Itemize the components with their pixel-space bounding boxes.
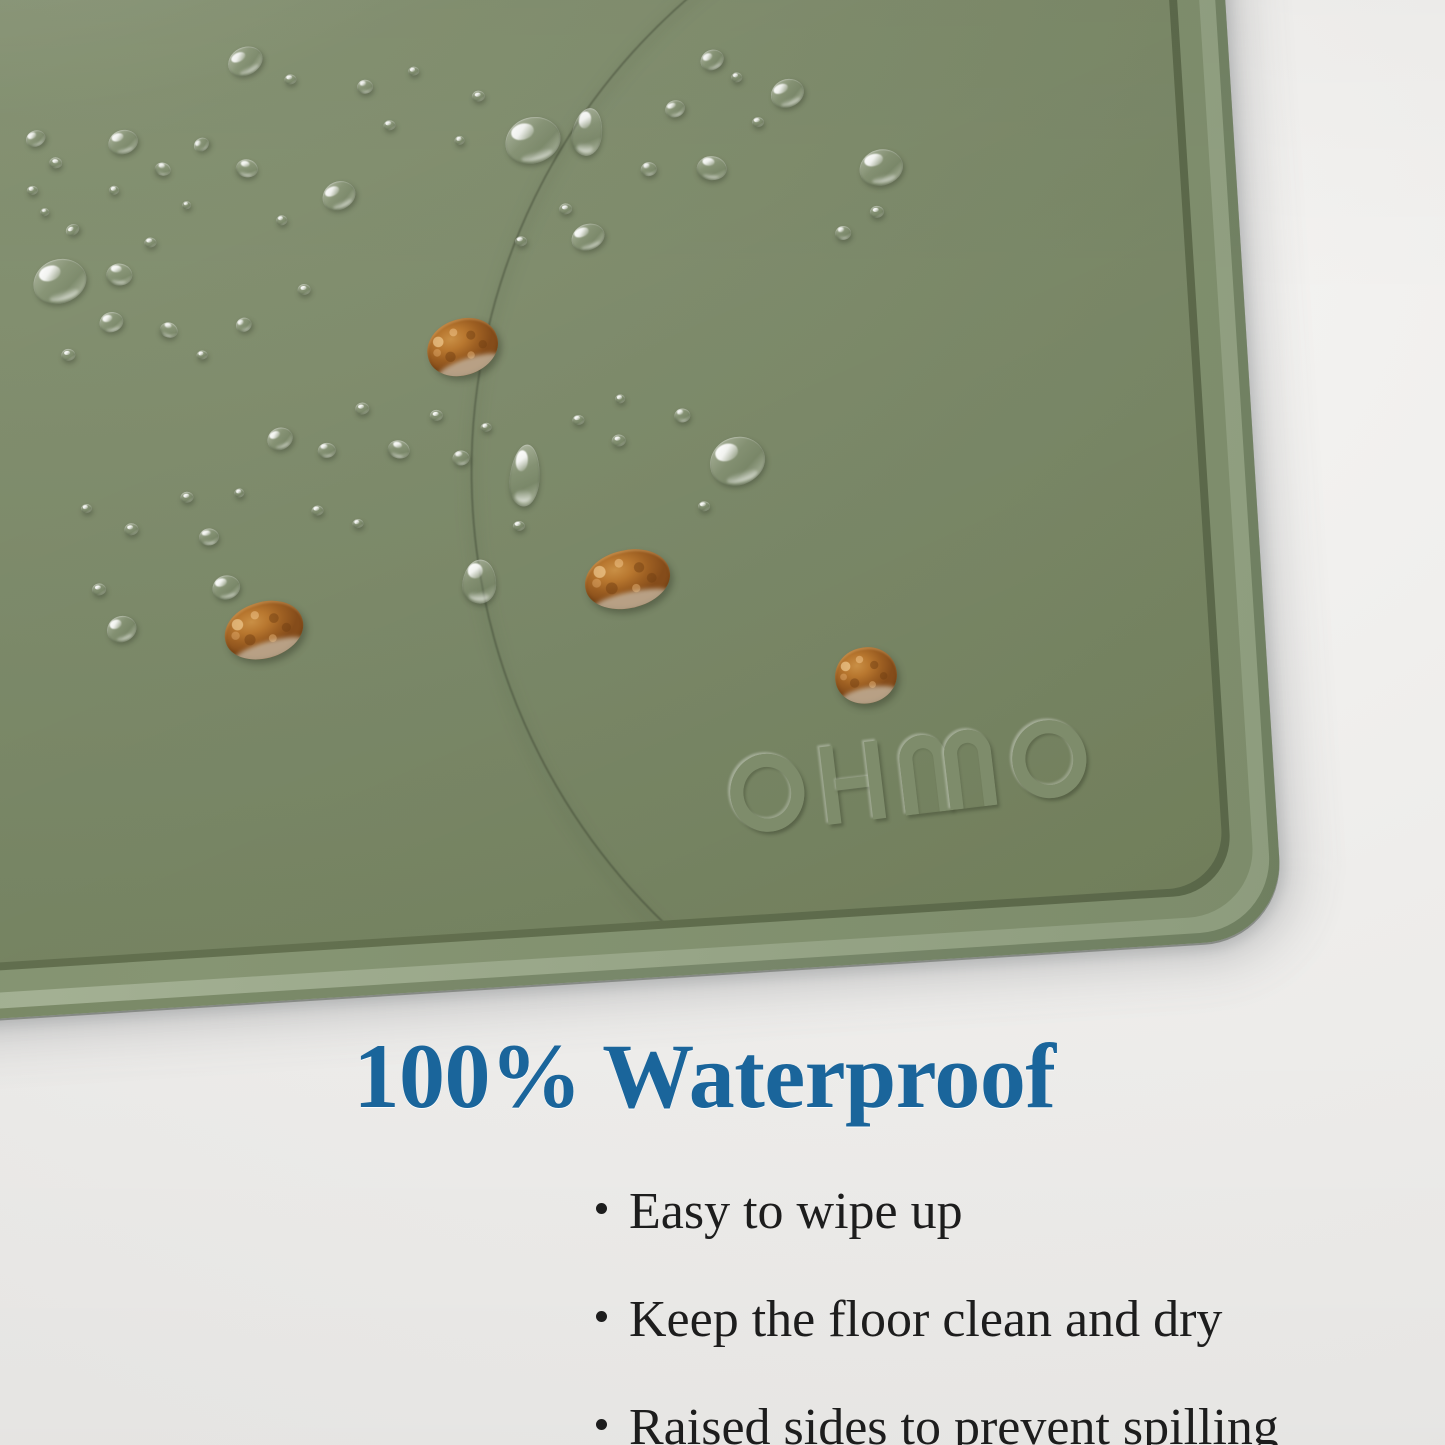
benefit-bullet-label: Raised sides to prevent spilling (629, 1400, 1279, 1445)
benefit-bullet-label: Keep the floor clean and dry (629, 1292, 1222, 1348)
benefit-bullet-item: Easy to wipe up (596, 1184, 1356, 1240)
headline: 100% Waterproof (0, 1030, 1445, 1122)
product-image-canvas: 100% Waterproof Easy to wipe upKeep the … (0, 0, 1445, 1445)
bullet-dot-icon (596, 1203, 607, 1214)
benefit-bullet-list: Easy to wipe upKeep the floor clean and … (596, 1184, 1356, 1445)
benefit-bullet-item: Raised sides to prevent spilling (596, 1400, 1356, 1445)
bullet-dot-icon (596, 1419, 607, 1430)
bullet-dot-icon (596, 1311, 607, 1322)
marketing-copy-block: 100% Waterproof Easy to wipe upKeep the … (0, 1030, 1445, 1445)
benefit-bullet-item: Keep the floor clean and dry (596, 1292, 1356, 1348)
benefit-bullet-label: Easy to wipe up (629, 1184, 963, 1240)
